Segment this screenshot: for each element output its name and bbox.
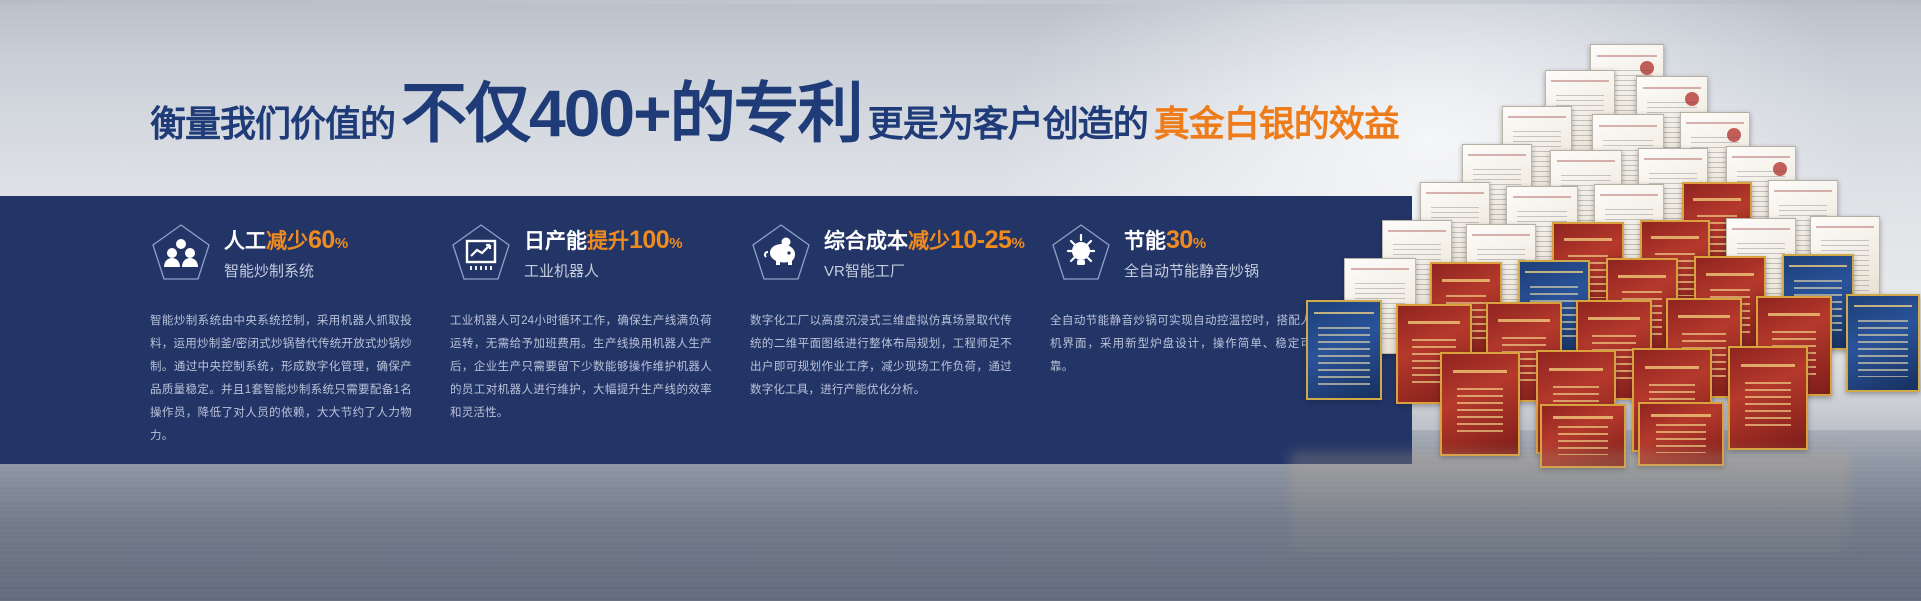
feature-title: 日产能提升100%: [524, 227, 683, 253]
certificate-item: [1846, 294, 1920, 392]
feature-title-prefix: 日产能: [524, 230, 587, 253]
feature-subtitle: 工业机器人: [524, 260, 683, 281]
feature-title-unit: %: [1011, 235, 1024, 252]
chart-board-icon: [450, 222, 512, 284]
feature-title: 人工减少60%: [224, 227, 348, 253]
headline-lead: 衡量我们价值的: [150, 106, 395, 146]
feature-title-prefix: 节能: [1124, 230, 1166, 253]
feature-title-unit: %: [335, 235, 348, 252]
feature-title-number: 60: [308, 226, 335, 254]
certificate-item: [1728, 346, 1808, 450]
certificate-reflection: [1290, 452, 1850, 572]
feature-body: 工业机器人可24小时循环工作，确保生产线满负荷运转，无需给予加班费用。生产线换用…: [450, 310, 712, 425]
feature-title-prefix: 综合成本: [824, 230, 908, 253]
feature-title-number: 100: [629, 226, 669, 254]
feature-title: 节能30%: [1124, 227, 1259, 253]
feature-block[interactable]: 人工减少60% 智能炒制系统 智能炒制系统由中央系统控制，采用机器人抓取投料，运…: [150, 196, 450, 464]
feature-subtitle: VR智能工厂: [824, 260, 1025, 281]
lightbulb-icon: [1050, 222, 1112, 284]
people-group-icon: [150, 222, 212, 284]
feature-title-prefix: 人工: [224, 230, 266, 253]
top-divider: [0, 0, 1921, 4]
feature-title-accent: 减少: [908, 230, 950, 253]
headline-middle: 更是为客户创造的: [868, 106, 1148, 146]
feature-block[interactable]: 综合成本减少10-25% VR智能工厂 数字化工厂以高度沉浸式三维虚拟仿真场景取…: [750, 196, 1050, 464]
feature-title: 综合成本减少10-25%: [824, 227, 1025, 253]
feature-subtitle: 智能炒制系统: [224, 260, 348, 281]
certificate-wall: [1240, 30, 1921, 510]
feature-title-number: 10-25: [950, 226, 1011, 254]
feature-title-unit: %: [1193, 235, 1206, 252]
feature-block[interactable]: 日产能提升100% 工业机器人 工业机器人可24小时循环工作，确保生产线满负荷运…: [450, 196, 750, 464]
feature-body: 智能炒制系统由中央系统控制，采用机器人抓取投料，运用炒制釜/密闭式炒锅替代传统开…: [150, 310, 412, 448]
certificate-item: [1440, 352, 1520, 456]
feature-subtitle: 全自动节能静音炒锅: [1124, 260, 1259, 281]
piggy-bank-icon: [750, 222, 812, 284]
feature-title-number: 30: [1166, 226, 1193, 254]
feature-title-unit: %: [669, 235, 682, 252]
headline-emphasis: 不仅400+的专利: [395, 80, 868, 146]
feature-title-accent: 减少: [266, 230, 308, 253]
feature-title-accent: 提升: [587, 230, 629, 253]
certificate-item: [1306, 300, 1382, 400]
feature-body: 数字化工厂以高度沉浸式三维虚拟仿真场景取代传统的二维平面图纸进行整体布局规划，工…: [750, 310, 1012, 402]
feature-panel: 人工减少60% 智能炒制系统 智能炒制系统由中央系统控制，采用机器人抓取投料，运…: [0, 196, 1412, 464]
